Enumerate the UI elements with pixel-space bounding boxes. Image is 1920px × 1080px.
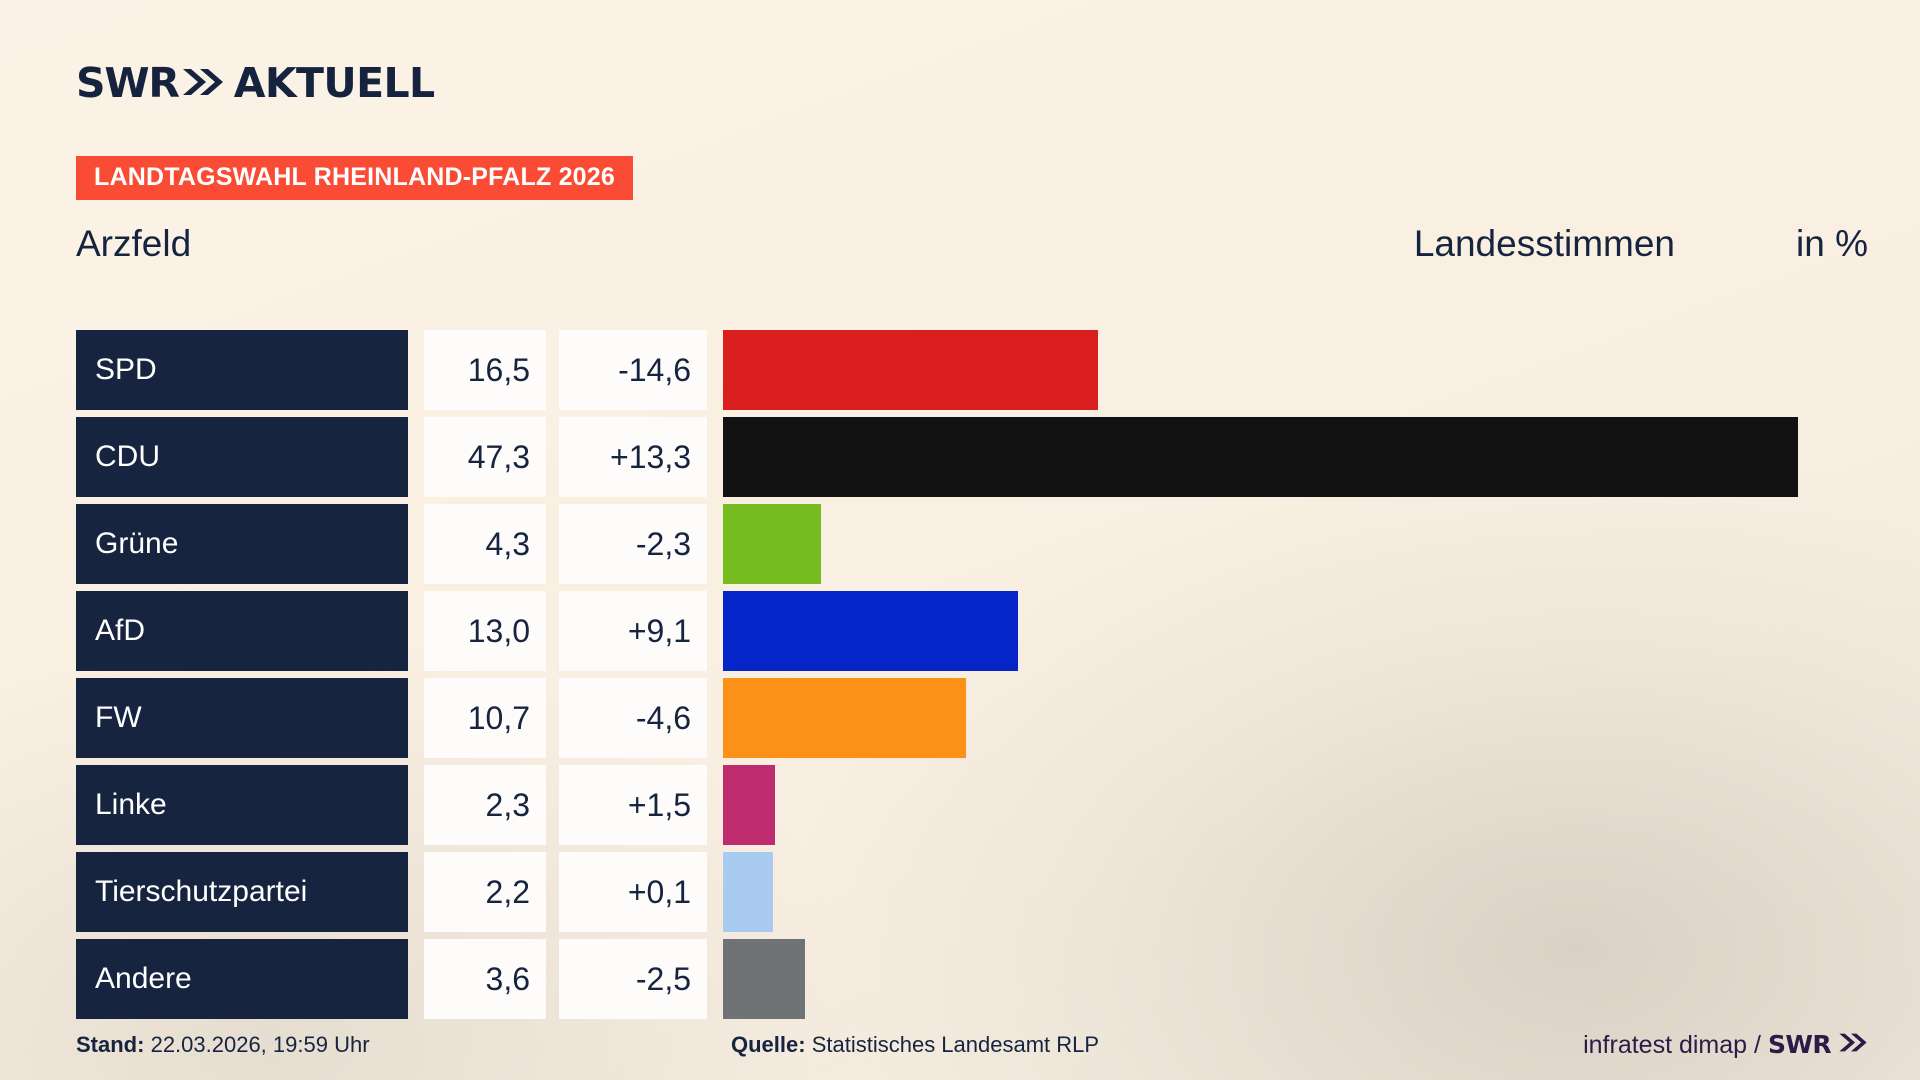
results-table: SPD16,5-14,6CDU47,3+13,3Grüne4,3-2,3AfD1… [0, 330, 1920, 1026]
party-change-cell: -4,6 [559, 678, 707, 758]
party-change-cell: -14,6 [559, 330, 707, 410]
party-result-bar [723, 330, 1098, 410]
swr-aktuell-logo: SWR AKTUELL [76, 60, 435, 106]
party-change-cell: +9,1 [559, 591, 707, 671]
party-result-cell: 4,3 [424, 504, 546, 584]
party-result-bar [723, 765, 775, 845]
party-result-bar [723, 678, 966, 758]
credit-chevron-icon [1838, 1031, 1868, 1060]
election-title-badge: LANDTAGSWAHL RHEINLAND-PFALZ 2026 [76, 156, 633, 200]
party-name-cell: FW [76, 678, 408, 758]
source-label: Quelle: [731, 1032, 806, 1057]
party-result-bar [723, 417, 1798, 497]
unit-label: in % [1796, 222, 1868, 266]
party-name-cell: Grüne [76, 504, 408, 584]
table-row: AfD13,0+9,1 [0, 591, 1920, 677]
party-change-cell: +13,3 [559, 417, 707, 497]
party-result-cell: 2,3 [424, 765, 546, 845]
party-result-cell: 10,7 [424, 678, 546, 758]
party-result-cell: 3,6 [424, 939, 546, 1019]
table-row: SPD16,5-14,6 [0, 330, 1920, 416]
party-name-cell: SPD [76, 330, 408, 410]
subheader: Arzfeld Landesstimmen in % [0, 222, 1920, 278]
party-change-cell: -2,3 [559, 504, 707, 584]
party-name-cell: AfD [76, 591, 408, 671]
table-row: Andere3,6-2,5 [0, 939, 1920, 1025]
source-info: Quelle: Statistisches Landesamt RLP [731, 1032, 1099, 1058]
party-name-cell: Linke [76, 765, 408, 845]
party-change-cell: +1,5 [559, 765, 707, 845]
party-result-bar [723, 504, 821, 584]
swr-wordmark: SWR [76, 63, 179, 104]
credit-agency: infratest dimap / [1583, 1031, 1761, 1060]
footer: Stand: 22.03.2026, 19:59 Uhr Quelle: Sta… [0, 1032, 1920, 1072]
table-row: Grüne4,3-2,3 [0, 504, 1920, 590]
stand-value: 22.03.2026, 19:59 Uhr [151, 1032, 370, 1057]
aktuell-wordmark: AKTUELL [234, 63, 435, 104]
party-result-bar [723, 852, 773, 932]
region-name: Arzfeld [76, 222, 191, 266]
stand-info: Stand: 22.03.2026, 19:59 Uhr [76, 1032, 370, 1058]
party-name-cell: CDU [76, 417, 408, 497]
party-name-cell: Tierschutzpartei [76, 852, 408, 932]
party-name-cell: Andere [76, 939, 408, 1019]
party-result-cell: 47,3 [424, 417, 546, 497]
credit-info: infratest dimap / SWR [1583, 1030, 1868, 1060]
stand-label: Stand: [76, 1032, 144, 1057]
party-result-cell: 2,2 [424, 852, 546, 932]
table-row: FW10,7-4,6 [0, 678, 1920, 764]
party-result-bar [723, 939, 805, 1019]
chart-canvas: SWR AKTUELL LANDTAGSWAHL RHEINLAND-PFALZ… [0, 0, 1920, 1080]
vote-type-label: Landesstimmen [1414, 222, 1675, 266]
table-row: Tierschutzpartei2,2+0,1 [0, 852, 1920, 938]
party-result-bar [723, 591, 1018, 671]
credit-swr: SWR [1768, 1030, 1831, 1059]
party-change-cell: -2,5 [559, 939, 707, 1019]
table-row: Linke2,3+1,5 [0, 765, 1920, 851]
table-row: CDU47,3+13,3 [0, 417, 1920, 503]
swr-chevron-icon [181, 67, 225, 102]
party-change-cell: +0,1 [559, 852, 707, 932]
party-result-cell: 16,5 [424, 330, 546, 410]
party-result-cell: 13,0 [424, 591, 546, 671]
source-value: Statistisches Landesamt RLP [812, 1032, 1099, 1057]
